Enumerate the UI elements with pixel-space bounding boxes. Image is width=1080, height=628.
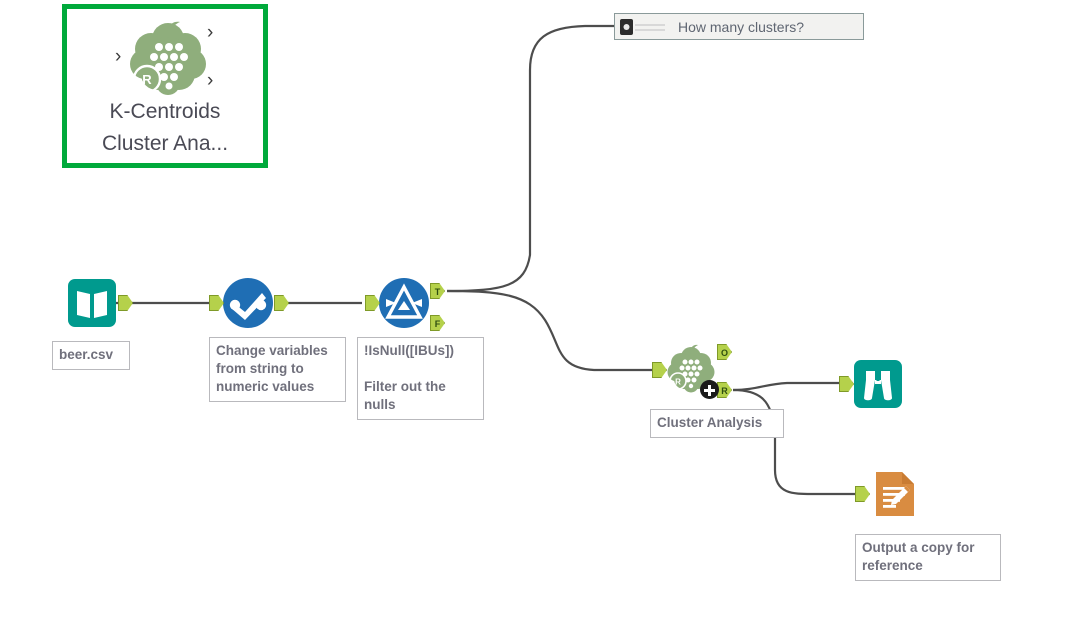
annotation-filter: !IsNull([IBUs]) Filter out the nulls bbox=[357, 337, 484, 420]
anchor-out-select[interactable] bbox=[274, 295, 289, 311]
select-check-icon bbox=[222, 277, 274, 329]
anchor-out-cluster-report[interactable]: R bbox=[717, 382, 732, 398]
node-select[interactable] bbox=[222, 277, 274, 329]
comment-box-how-many-clusters[interactable]: How many clusters? bbox=[614, 13, 864, 40]
node-browse[interactable] bbox=[852, 358, 904, 410]
wire-filter-to-comment bbox=[447, 26, 616, 291]
selected-tool-frame[interactable]: R › › › K-Centroids Cluster Ana... bbox=[62, 4, 268, 168]
anchor-out-cluster-output[interactable]: O bbox=[717, 344, 732, 360]
annotation-input-data: beer.csv bbox=[52, 341, 130, 370]
filter-funnel-icon bbox=[378, 277, 430, 329]
wire-cluster-to-browse bbox=[733, 383, 853, 390]
svg-text:R: R bbox=[675, 378, 681, 387]
anchor-out-filter-true[interactable]: T bbox=[430, 283, 445, 299]
node-render[interactable] bbox=[868, 468, 920, 520]
document-pencil-icon bbox=[868, 468, 920, 520]
annotation-cluster-analysis: Cluster Analysis bbox=[650, 409, 784, 438]
selected-tool-title-line2: Cluster Ana... bbox=[67, 127, 263, 160]
anchor-label-true: T bbox=[432, 284, 443, 300]
annotation-render: Output a copy for reference bbox=[855, 534, 1001, 581]
workflow-canvas[interactable]: R › › › K-Centroids Cluster Ana... How m… bbox=[0, 0, 1080, 628]
binoculars-icon bbox=[852, 358, 904, 410]
anchor-out-filter-false[interactable]: F bbox=[430, 315, 445, 331]
annotation-select: Change variables from string to numeric … bbox=[209, 337, 346, 402]
grape-cluster-r-icon: R bbox=[125, 19, 211, 99]
anchor-chevron-out-top[interactable]: › bbox=[207, 23, 213, 42]
anchor-label-output: O bbox=[719, 345, 730, 361]
anchor-chevron-out-bottom[interactable]: › bbox=[207, 71, 213, 90]
comment-text: How many clusters? bbox=[678, 19, 804, 35]
open-book-icon bbox=[66, 277, 118, 329]
anchor-label-false: F bbox=[432, 316, 443, 332]
node-cluster-analysis[interactable]: R O R bbox=[665, 344, 717, 396]
anchor-label-report: R bbox=[719, 383, 730, 399]
interface-text-box-icon bbox=[620, 18, 666, 36]
node-filter[interactable]: T F bbox=[378, 277, 430, 329]
add-connection-plus-badge[interactable] bbox=[700, 380, 719, 399]
svg-text:R: R bbox=[142, 72, 152, 87]
anchor-chevron-in[interactable]: › bbox=[115, 47, 121, 66]
selected-tool-title-line1: K-Centroids bbox=[67, 95, 263, 128]
wire-cluster-to-render bbox=[733, 390, 856, 494]
node-input-data[interactable] bbox=[66, 277, 118, 329]
anchor-out-input-data[interactable] bbox=[118, 295, 133, 311]
